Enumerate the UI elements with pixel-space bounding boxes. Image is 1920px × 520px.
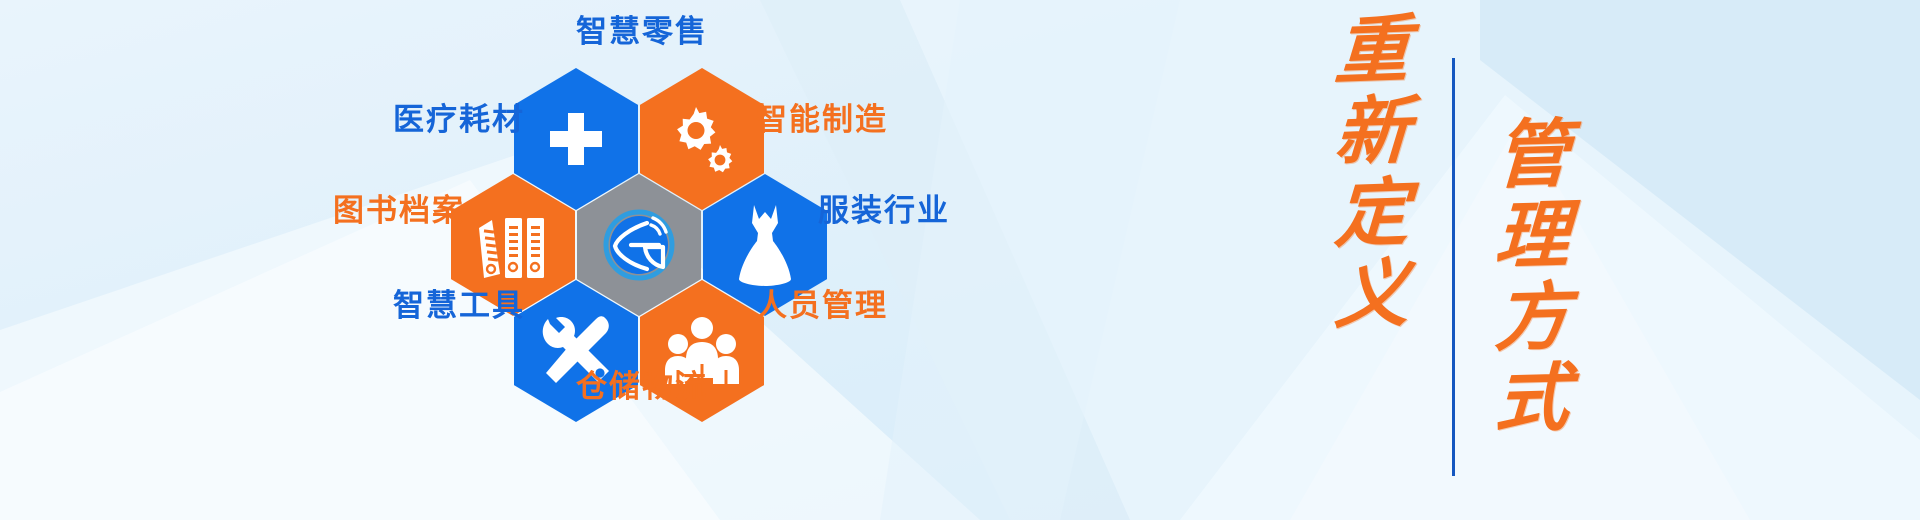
headline-char: 理 [1493,199,1570,276]
headline-column-left: 重 新 定 义 [1312,0,1432,520]
headline-char: 义 [1333,257,1411,335]
headline-char: 管 [1493,117,1570,194]
headline-divider [1452,58,1455,476]
label-archives: 图书档案 [200,196,465,227]
headline-char: 重 [1333,13,1411,91]
company-logo-icon [601,207,677,283]
headline-char: 新 [1333,94,1411,172]
label-retail: 智慧零售 [447,17,837,48]
gears-icon [667,105,737,173]
headline-char: 定 [1333,176,1411,254]
banner-root: 智慧零售 医疗耗材 智能制造 图书档案 服装行业 智慧工具 人员管理 仓储物流 … [0,0,1920,520]
binders-icon [475,208,551,282]
dress-icon [732,203,798,287]
label-apparel: 服装行业 [818,196,1098,227]
label-manufacturing: 智能制造 [756,105,1036,136]
label-tools: 智慧工具 [260,291,525,322]
medical-cross-icon [544,107,608,171]
label-medical: 医疗耗材 [260,105,525,136]
headline-calligraphy: 重 新 定 义 管 理 方 式 [1290,0,1650,520]
headline-char: 式 [1493,361,1570,438]
label-personnel: 人员管理 [756,291,1036,322]
label-logistics: 仓储物流 [447,372,837,403]
headline-char: 方 [1493,280,1570,357]
headline-column-right: 管 理 方 式 [1472,0,1592,520]
